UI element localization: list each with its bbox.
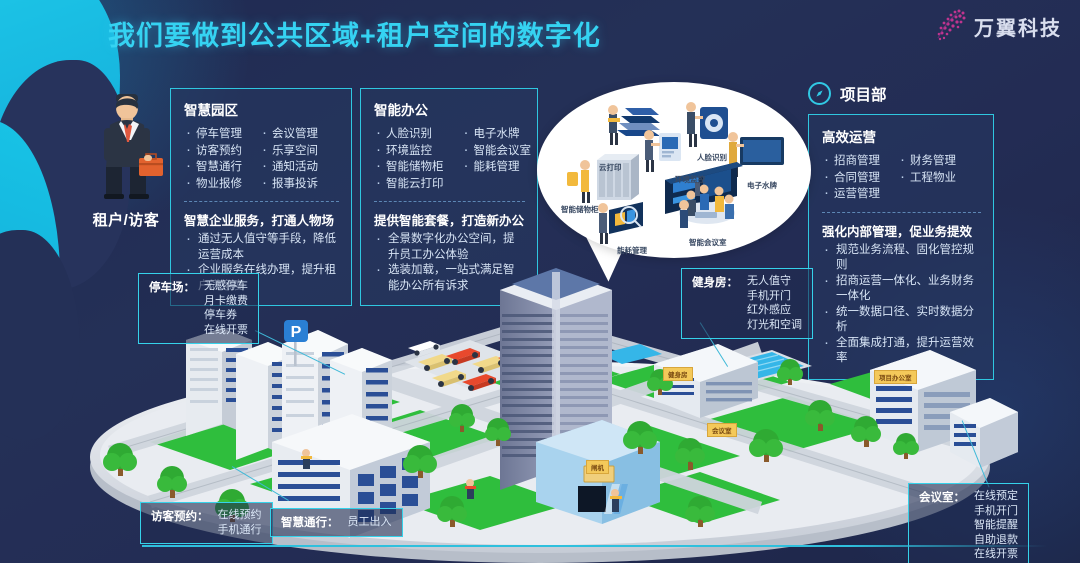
- bullet-item: 物业报修: [184, 176, 242, 193]
- card-bullet-columns: 招商管理 合同管理 运营管理 财务管理 工程物业: [822, 153, 981, 203]
- callout-meeting-room: 会议室： 在线预定 手机开门 智能提醒 自助退款 在线开票: [908, 483, 1029, 563]
- callout-value: 在线开票: [204, 323, 248, 338]
- callout-gym: 健身房： 无人值守 手机开门 红外感应 灯光和空调: [681, 268, 813, 339]
- card-divider: [184, 201, 339, 202]
- bubble-label-env-monitor: 环境监控: [675, 174, 705, 185]
- callout-values: 在线预约 手机通行: [218, 508, 262, 537]
- building-label-meeting-room: 会议室: [707, 423, 737, 437]
- bullet-item: 电子水牌: [462, 126, 532, 143]
- bullet-item: 合同管理: [822, 170, 880, 187]
- bubble-label-face-recognition: 人脸识别: [697, 152, 727, 163]
- bottom-divider-rule: [142, 545, 1047, 547]
- callout-values: 员工出入: [348, 515, 392, 530]
- persona-label: 租户/访客: [78, 209, 174, 230]
- callout-value: 在线预约: [218, 508, 262, 523]
- callout-key: 智慧通行：: [281, 514, 339, 530]
- callout-key: 访客预约：: [151, 508, 209, 524]
- bullet-column-left: 停车管理 访客预约 智慧通行 物业报修: [184, 126, 242, 192]
- bullet-item: 人脸识别: [374, 126, 444, 143]
- bubble-label-e-signage: 电子水牌: [747, 180, 777, 191]
- card-divider: [374, 201, 525, 202]
- compass-icon: [808, 82, 831, 105]
- callout-value: 在线预定: [974, 489, 1018, 504]
- card-divider: [822, 212, 981, 213]
- slide-canvas: 我们要做到公共区域+租户空间的数字化 万翼科技: [0, 0, 1080, 563]
- speech-bubble-smart-office: 云打印 人脸识别 环境监控 电子水牌 智能储物柜 能耗管理 智能会议室: [537, 82, 811, 258]
- bullet-item: 工程物业: [898, 170, 956, 187]
- bullet-column-left: 招商管理 合同管理 运营管理: [822, 153, 880, 203]
- brand-logo: 万翼科技: [936, 8, 1062, 44]
- card-subtitle: 提供智能套餐，打造新办公: [374, 210, 525, 229]
- bullet-item: 智能会议室: [462, 143, 532, 160]
- callout-value: 手机开门: [974, 504, 1018, 519]
- bullet-item: 智能储物柜: [374, 159, 444, 176]
- bullet-column-right: 财务管理 工程物业: [898, 153, 956, 203]
- callout-value: 灯光和空调: [747, 318, 802, 333]
- building-label-project-office: 项目办公室: [874, 370, 917, 384]
- bullet-item: 运营管理: [822, 186, 880, 203]
- bullet-item: 能耗管理: [462, 159, 532, 176]
- card-subtitle: 强化内部管理，促业务提效: [822, 221, 981, 240]
- callout-value: 无感停车: [204, 279, 248, 294]
- callout-visitor-reservation: 访客预约： 在线预约 手机通行: [140, 502, 273, 544]
- callout-value: 在线开票: [974, 547, 1018, 562]
- callout-value: 红外感应: [747, 303, 802, 318]
- bullet-column-left: 人脸识别 环境监控 智能储物柜 智能云打印: [374, 126, 444, 192]
- callout-key: 会议室：: [919, 489, 965, 505]
- brand-name: 万翼科技: [974, 12, 1062, 41]
- callout-key: 停车场：: [149, 279, 195, 295]
- bullet-item: 智能云打印: [374, 176, 444, 193]
- callout-parking: 停车场： 无感停车 月卡缴费 停车券 在线开票: [138, 273, 259, 344]
- callout-value: 月卡缴费: [204, 294, 248, 309]
- bullet-item: 报事投诉: [260, 176, 318, 193]
- callout-value: 手机开门: [747, 289, 802, 304]
- callout-values: 在线预定 手机开门 智能提醒 自助退款 在线开票: [974, 489, 1018, 562]
- bullet-item: 停车管理: [184, 126, 242, 143]
- card-bullet-columns: 人脸识别 环境监控 智能储物柜 智能云打印 电子水牌 智能会议室 能耗管理: [374, 126, 525, 192]
- page-title: 我们要做到公共区域+租户空间的数字化: [108, 14, 601, 53]
- callout-smart-pass: 智慧通行： 员工出入: [270, 508, 403, 537]
- callout-key: 健身房：: [692, 274, 738, 290]
- building-label-gym: 健身房: [663, 367, 693, 381]
- svg-text:P: P: [291, 324, 302, 341]
- department-header: 项目部: [808, 82, 887, 105]
- callout-value: 无人值守: [747, 274, 802, 289]
- wing-dots-logo-icon: [936, 8, 970, 44]
- bullet-item: 通知活动: [260, 159, 318, 176]
- callout-value: 手机通行: [218, 523, 262, 538]
- bullet-item: 访客预约: [184, 143, 242, 160]
- callout-values: 无感停车 月卡缴费 停车券 在线开票: [204, 279, 248, 337]
- bubble-label-smart-locker: 智能储物柜: [561, 204, 599, 215]
- bullet-item: 乐享空间: [260, 143, 318, 160]
- bullet-item: 招商管理: [822, 153, 880, 170]
- callout-value: 停车券: [204, 308, 248, 323]
- smart-office-illustration: [537, 82, 811, 258]
- card-bullet-columns: 停车管理 访客预约 智慧通行 物业报修 会议管理 乐享空间 通知活动 报事投诉: [184, 126, 339, 192]
- card-title: 智慧园区: [184, 99, 339, 119]
- building-label-gate: 闸机: [586, 460, 609, 474]
- callout-value: 员工出入: [348, 515, 392, 530]
- department-title: 项目部: [840, 83, 887, 105]
- bullet-item: 环境监控: [374, 143, 444, 160]
- persona-tenant-visitor: 租户/访客: [78, 88, 174, 230]
- bullet-item: 智慧通行: [184, 159, 242, 176]
- callout-value: 智能提醒: [974, 518, 1018, 533]
- bubble-label-meeting-room: 智能会议室: [689, 237, 727, 248]
- card-title: 智能办公: [374, 99, 525, 119]
- card-subtitle: 智慧企业服务，打通人物场: [184, 210, 339, 229]
- bullet-item: 财务管理: [898, 153, 956, 170]
- bullet-item: 会议管理: [260, 126, 318, 143]
- businessman-icon: [80, 88, 172, 200]
- bullet-column-right: 会议管理 乐享空间 通知活动 报事投诉: [260, 126, 318, 192]
- bullet-column-right: 电子水牌 智能会议室 能耗管理: [462, 126, 532, 192]
- callout-values: 无人值守 手机开门 红外感应 灯光和空调: [747, 274, 802, 332]
- card-title: 高效运营: [822, 126, 981, 146]
- bubble-label-cloud-print: 云打印: [599, 162, 622, 173]
